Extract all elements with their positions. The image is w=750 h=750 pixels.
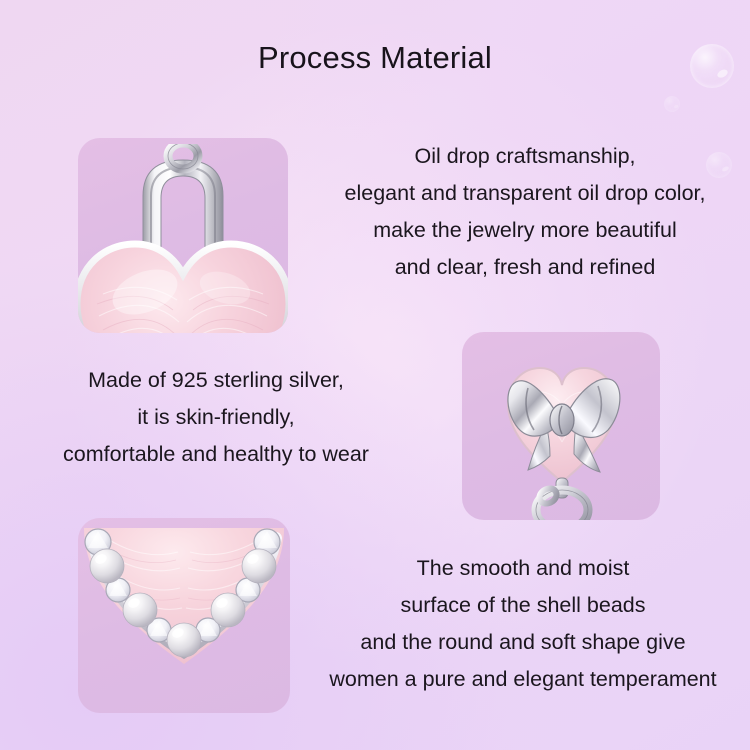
copy-line: it is skin-friendly, [16,399,416,436]
bow-heart-icon [462,332,660,520]
sterling-silver-text: Made of 925 sterling silver, it is skin-… [16,362,416,473]
pearl-heart-icon [78,518,290,713]
copy-line: The smooth and moist [296,550,750,587]
copy-line: Oil drop craftsmanship, [300,138,750,175]
copy-line: and clear, fresh and refined [300,249,750,286]
copy-line: make the jewelry more beautiful [300,212,750,249]
bow-heart-charm-image [462,332,660,520]
pearl-heart-charm-image [78,518,290,713]
product-marketing-poster: Process Material [0,0,750,750]
copy-line: comfortable and healthy to wear [16,436,416,473]
copy-line: and the round and soft shape give [296,624,750,661]
copy-line: surface of the shell beads [296,587,750,624]
heart-padlock-charm-image [78,138,288,333]
shell-beads-text: The smooth and moist surface of the shel… [296,550,750,698]
copy-line: elegant and transparent oil drop color, [300,175,750,212]
bubble-right-faint [664,96,680,112]
copy-line: women a pure and elegant temperament [296,661,750,698]
oil-drop-craftsmanship-text: Oil drop craftsmanship, elegant and tran… [300,138,750,286]
pink-enamel-heart [78,230,288,333]
page-title: Process Material [0,40,750,76]
copy-line: Made of 925 sterling silver, [16,362,416,399]
